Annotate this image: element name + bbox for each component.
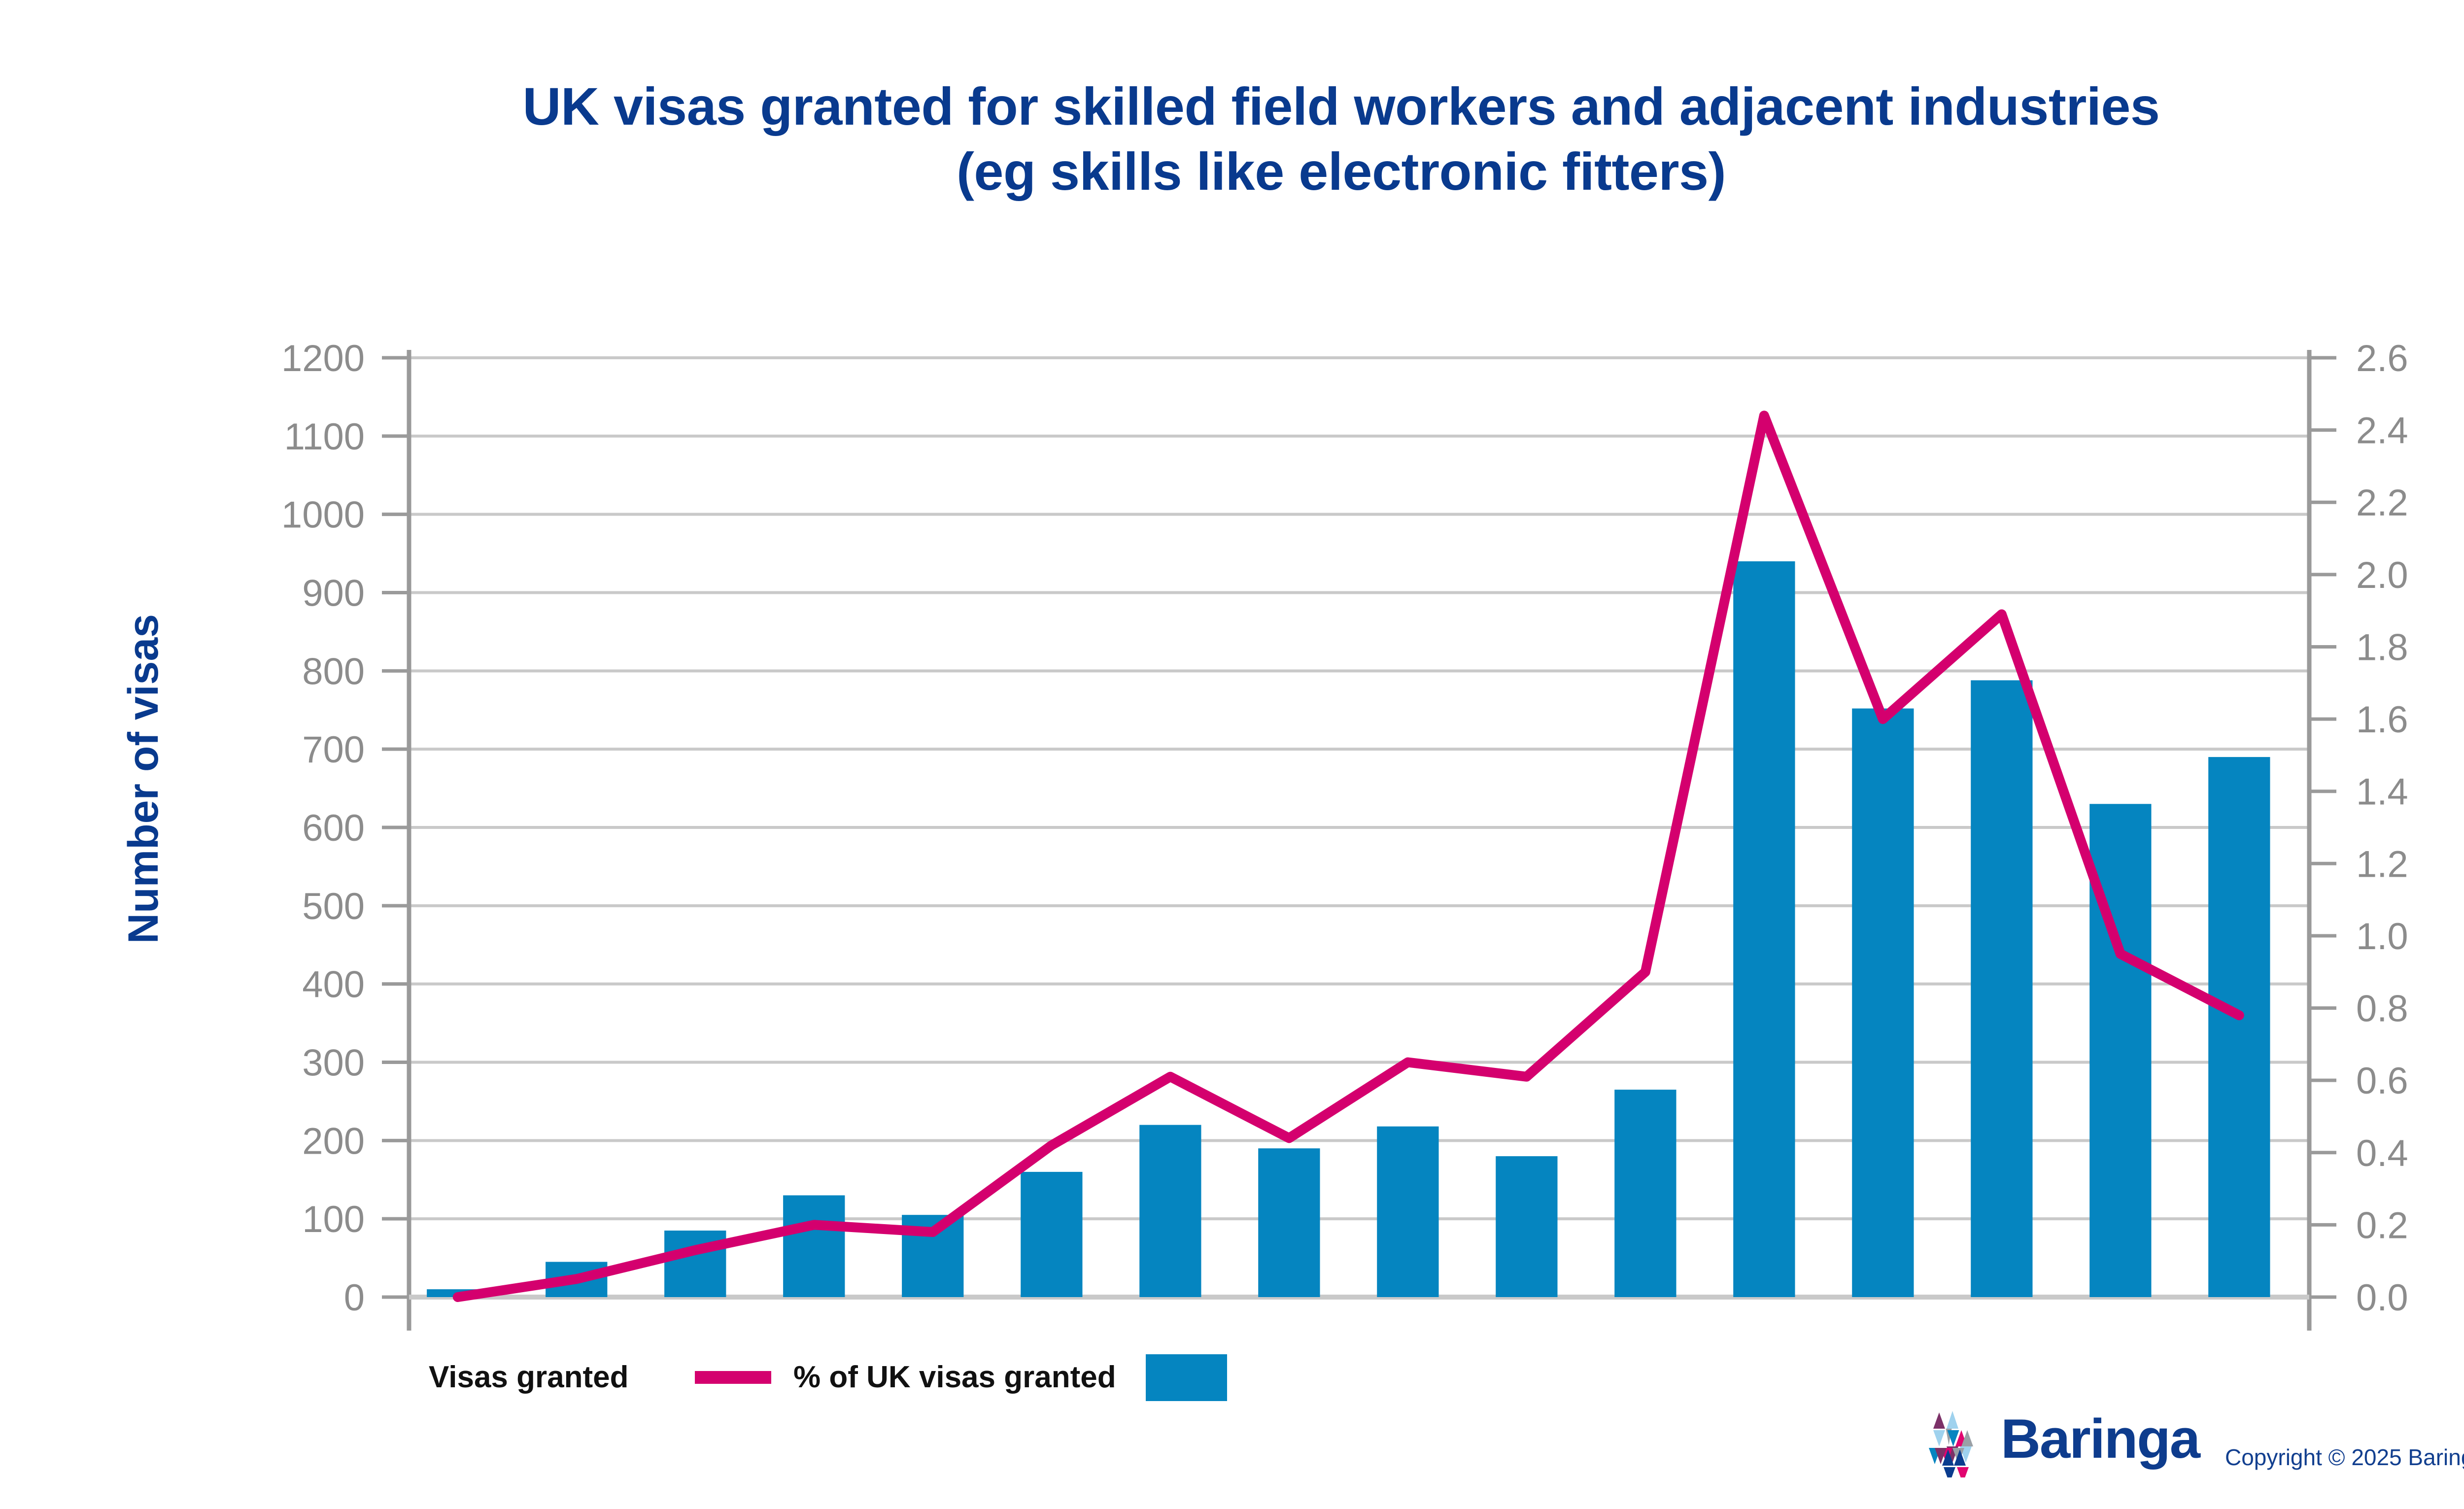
bar: [1377, 1127, 1438, 1297]
left-tick-label: 300: [302, 1042, 365, 1084]
chart-page: UK visas granted for skilled field worke…: [0, 0, 2464, 1509]
right-tick-label: 0.0: [2356, 1277, 2408, 1319]
left-tick-label: 600: [302, 807, 365, 849]
bar: [1614, 1090, 1676, 1297]
left-tick-label: 800: [302, 651, 365, 692]
left-axis-title: Number of visas: [120, 614, 167, 944]
right-tick-label: 2.0: [2356, 554, 2408, 596]
right-tick-label: 1.2: [2356, 843, 2408, 885]
right-tick-label: 2.4: [2356, 410, 2408, 452]
left-tick-label: 100: [302, 1199, 365, 1240]
baringa-wordmark: Baringa: [2001, 1407, 2199, 1471]
right-tick-label: 0.2: [2356, 1204, 2408, 1246]
right-tick-label: 1.6: [2356, 699, 2408, 741]
left-tick-label: 400: [302, 964, 365, 1006]
copyright-text: Copyright © 2025 Baringa Partners LLP: [2225, 1444, 2464, 1471]
baringa-logo-icon: [1924, 1404, 1998, 1477]
right-tick-label: 0.8: [2356, 988, 2408, 1030]
bar: [1852, 709, 1914, 1297]
bar: [1021, 1172, 1082, 1297]
left-tick-label: 200: [302, 1120, 365, 1162]
left-tick-label: 500: [302, 886, 365, 927]
bar: [1971, 680, 2032, 1297]
legend-marker-square: [1146, 1354, 1227, 1401]
legend-marker-line: [695, 1371, 771, 1384]
right-tick-label: 1.0: [2356, 916, 2408, 958]
left-tick-label: 1000: [281, 494, 365, 536]
right-tick-label: 0.4: [2356, 1132, 2408, 1174]
left-tick-label: 700: [302, 729, 365, 771]
right-tick-label: 1.8: [2356, 626, 2408, 668]
bar: [1258, 1148, 1320, 1297]
left-tick-label: 900: [302, 573, 365, 615]
legend-label-pct-uk-visas: % of UK visas granted: [793, 1360, 1116, 1394]
bar: [2208, 757, 2270, 1297]
right-tick-label: 0.6: [2356, 1060, 2408, 1102]
left-tick-label: 1200: [281, 338, 365, 379]
combo-chart: 0100200300400500600700800900100011001200…: [0, 0, 2464, 1509]
left-tick-label: 1100: [284, 416, 365, 458]
bar: [1733, 561, 1795, 1297]
legend-label-visas-granted: Visas granted: [429, 1360, 628, 1394]
right-tick-label: 2.6: [2356, 338, 2408, 379]
left-axis-ticks: 0100200300400500600700800900100011001200: [281, 338, 409, 1319]
legend: Visas granted % of UK visas granted: [429, 1354, 1227, 1401]
right-tick-label: 2.2: [2356, 482, 2408, 524]
bar: [1139, 1125, 1201, 1297]
bar: [783, 1196, 845, 1298]
right-tick-label: 1.4: [2356, 771, 2408, 813]
left-tick-label: 0: [344, 1277, 365, 1319]
right-axis-ticks: 0.00.20.40.60.81.01.21.41.61.82.02.22.42…: [2309, 338, 2408, 1319]
bar: [1496, 1156, 1557, 1297]
